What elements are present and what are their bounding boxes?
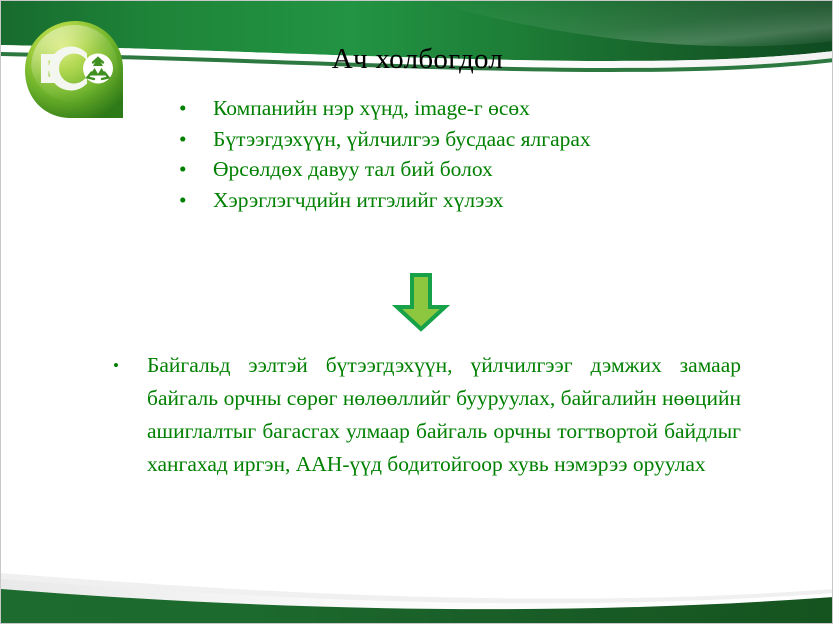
summary-block: • Байгальд ээлтэй бүтээгдэхүүн, үйлчилгэ… xyxy=(109,349,741,481)
bullet-icon: • xyxy=(179,155,187,185)
bullet-icon: • xyxy=(179,186,187,216)
list-item: • Хэрэглэгчдийн итгэлийг хүлээх xyxy=(169,186,639,216)
list-item-label: Өрсөлдөх давуу тал бий болох xyxy=(213,157,493,181)
bullet-icon: • xyxy=(179,125,187,155)
list-item: • Бүтээгдэхүүн, үйлчилгээ бусдаас ялгара… xyxy=(169,125,639,155)
bullet-list: • Компанийн нэр хүнд, image-г өсөх • Бүт… xyxy=(169,94,639,216)
down-arrow-icon xyxy=(390,271,452,333)
list-item-label: Компанийн нэр хүнд, image-г өсөх xyxy=(213,96,530,120)
list-item-label: Бүтээгдэхүүн, үйлчилгээ бусдаас ялгарах xyxy=(213,127,591,151)
list-item-label: Хэрэглэгчдийн итгэлийг хүлээх xyxy=(213,188,504,212)
presentation-slide: Ач холбогдол • Компанийн нэр хүнд, image… xyxy=(0,0,833,624)
bullet-icon: • xyxy=(179,94,187,124)
page-title: Ач холбогдол xyxy=(1,43,833,76)
bullet-icon: • xyxy=(113,349,119,382)
list-item: • Компанийн нэр хүнд, image-г өсөх xyxy=(169,94,639,124)
summary-text: Байгальд ээлтэй бүтээгдэхүүн, үйлчилгээг… xyxy=(147,349,741,481)
list-item: • Өрсөлдөх давуу тал бий болох xyxy=(169,155,639,185)
footer-banner xyxy=(1,567,833,623)
